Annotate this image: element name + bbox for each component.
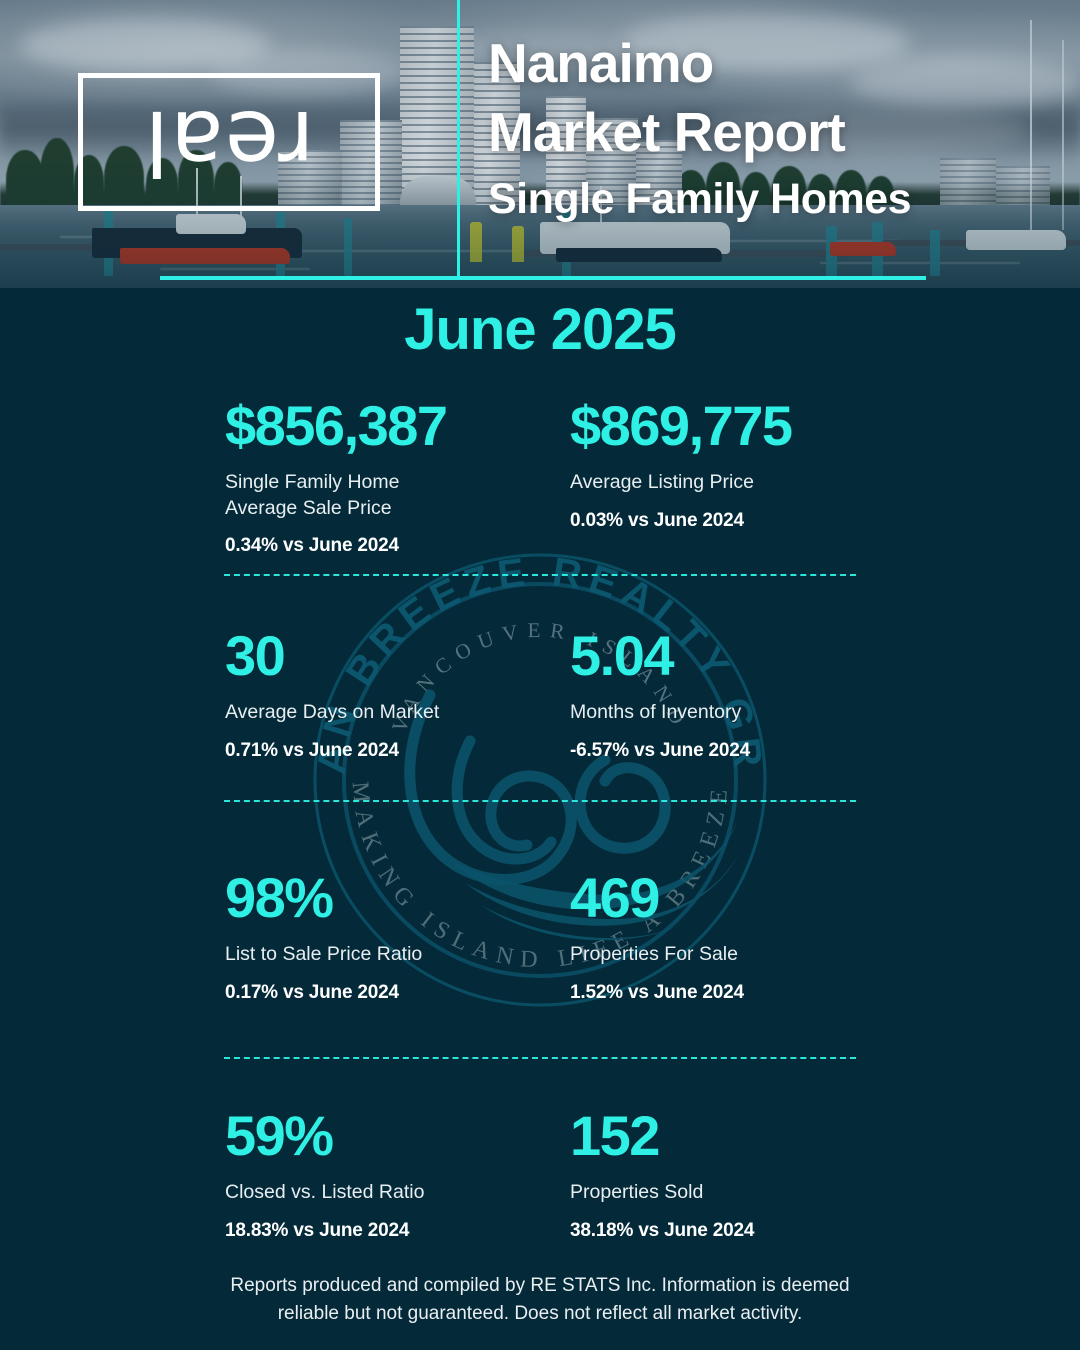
stat-label: Average Days on Market: [225, 700, 570, 726]
stat-delta: 18.83% vs June 2024: [225, 1220, 570, 1242]
stat-value: 5.04: [570, 628, 915, 684]
stat-average-sale-price: $856,387 Single Family Home Average Sale…: [225, 398, 570, 557]
stat-label: Closed vs. Listed Ratio: [225, 1180, 570, 1206]
stat-closed-vs-listed-ratio: 59% Closed vs. Listed Ratio 18.83% vs Ju…: [225, 1108, 570, 1242]
stat-value: 30: [225, 628, 570, 684]
stat-value: 59%: [225, 1108, 570, 1164]
stat-properties-sold: 152 Properties Sold 38.18% vs June 2024: [570, 1108, 915, 1242]
divider-3: [224, 1057, 856, 1059]
stat-properties-for-sale: 469 Properties For Sale 1.52% vs June 20…: [570, 870, 915, 1004]
stat-delta: 0.03% vs June 2024: [570, 510, 915, 532]
stat-label: Single Family Home Average Sale Price: [225, 470, 570, 521]
stat-delta: 0.17% vs June 2024: [225, 982, 570, 1004]
stat-value: $869,775: [570, 398, 915, 454]
stat-label: Average Listing Price: [570, 470, 915, 496]
stat-value: 98%: [225, 870, 570, 926]
stat-label: List to Sale Price Ratio: [225, 942, 570, 968]
stat-delta: -6.57% vs June 2024: [570, 740, 915, 762]
stat-delta: 0.71% vs June 2024: [225, 740, 570, 762]
stats-grid: $856,387 Single Family Home Average Sale…: [0, 0, 1080, 1350]
stat-label: Properties For Sale: [570, 942, 915, 968]
stat-average-days-on-market: 30 Average Days on Market 0.71% vs June …: [225, 628, 570, 762]
stat-value: 152: [570, 1108, 915, 1164]
divider-2: [224, 800, 856, 802]
stat-label: Months of Inventory: [570, 700, 915, 726]
stat-average-listing-price: $869,775 Average Listing Price 0.03% vs …: [570, 398, 915, 532]
stat-delta: 38.18% vs June 2024: [570, 1220, 915, 1242]
disclaimer-text: Reports produced and compiled by RE STAT…: [0, 1272, 1080, 1327]
stat-months-of-inventory: 5.04 Months of Inventory -6.57% vs June …: [570, 628, 915, 762]
market-report-infographic: real Nanaimo Market Report Single Family…: [0, 0, 1080, 1350]
stat-value: 469: [570, 870, 915, 926]
stat-value: $856,387: [225, 398, 570, 454]
stat-delta: 0.34% vs June 2024: [225, 535, 570, 557]
stat-list-to-sale-price-ratio: 98% List to Sale Price Ratio 0.17% vs Ju…: [225, 870, 570, 1004]
stat-delta: 1.52% vs June 2024: [570, 982, 915, 1004]
divider-1: [224, 574, 856, 576]
stat-label: Properties Sold: [570, 1180, 915, 1206]
